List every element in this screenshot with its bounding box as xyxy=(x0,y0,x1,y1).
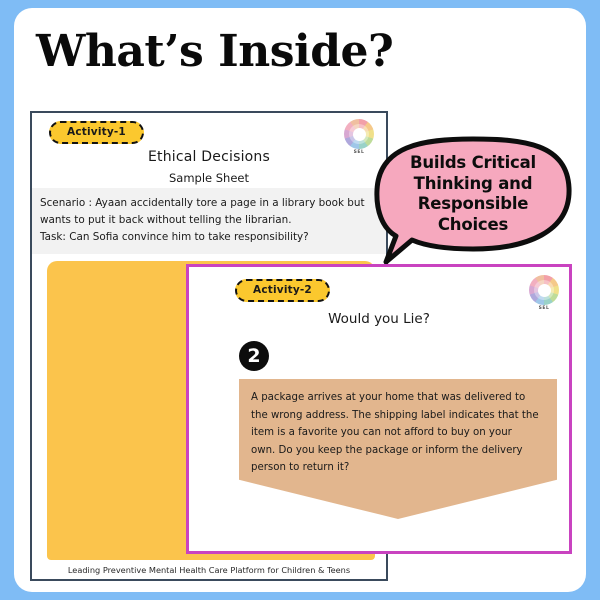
sel-logo-caption: SEL xyxy=(527,306,561,311)
activity-2-badge: Activity-2 xyxy=(235,279,330,302)
question-number-badge: 2 xyxy=(239,341,269,371)
callout-speech-bubble: Builds Critical Thinking and Responsible… xyxy=(374,136,572,264)
callout-line: Choices xyxy=(388,215,558,236)
question-line: A package arrives at your home that was … xyxy=(251,389,545,407)
callout-line: Thinking and xyxy=(388,174,558,195)
page-footer-text: Leading Preventive Mental Health Care Pl… xyxy=(32,565,386,575)
activity-1-badge: Activity-1 xyxy=(49,121,144,144)
question-line: the wrong address. The shipping label in… xyxy=(251,407,545,425)
page-title: What’s Inside? xyxy=(36,26,393,77)
poster-canvas: What’s Inside? Activity-1 Ethical Decisi… xyxy=(0,0,600,600)
sel-logo-caption: SEL xyxy=(342,150,376,155)
callout-line: Responsible xyxy=(388,194,558,215)
sel-logo-icon: SEL xyxy=(342,119,376,159)
activity-2-title: Would you Lie? xyxy=(189,311,569,327)
sel-logo-icon: SEL xyxy=(527,275,561,315)
sel-wheel-icon xyxy=(344,119,374,149)
scenario-line: Task: Can Sofia convince him to take res… xyxy=(40,229,378,246)
sel-wheel-icon xyxy=(529,275,559,305)
question-line: person to return it? xyxy=(251,459,545,477)
activity-2-card: Activity-2 Would you Lie? SEL 2 A packag… xyxy=(186,264,572,554)
question-line: item is a favorite you can not afford to… xyxy=(251,424,545,442)
callout-text: Builds Critical Thinking and Responsible… xyxy=(388,153,558,236)
poster-page: What’s Inside? Activity-1 Ethical Decisi… xyxy=(14,8,586,592)
activity-1-scenario-band: Scenario : Ayaan accidentally tore a pag… xyxy=(32,188,386,254)
scenario-line: Scenario : Ayaan accidentally tore a pag… xyxy=(40,195,378,212)
callout-line: Builds Critical xyxy=(388,153,558,174)
activity-1-title: Ethical Decisions xyxy=(32,149,386,165)
question-line: own. Do you keep the package or inform t… xyxy=(251,442,545,460)
activity-1-subtitle: Sample Sheet xyxy=(32,171,386,185)
scenario-line: wants to put it back without telling the… xyxy=(40,212,378,229)
activity-2-question-box: A package arrives at your home that was … xyxy=(239,379,557,519)
